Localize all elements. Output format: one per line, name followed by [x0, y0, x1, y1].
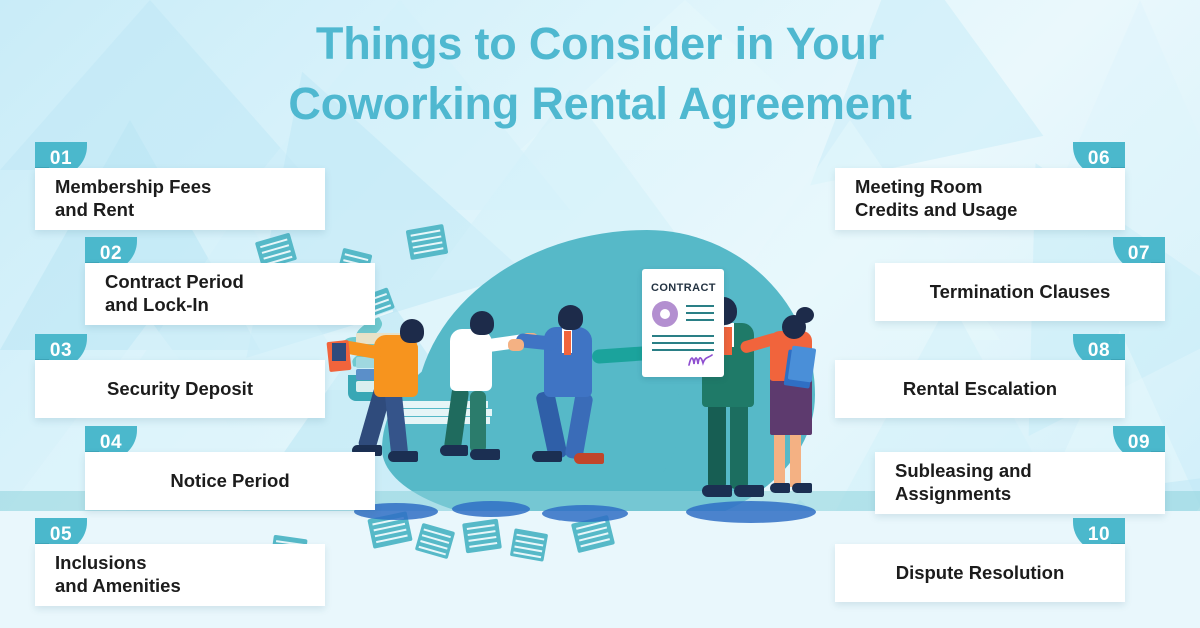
- contract-heading: CONTRACT: [651, 282, 716, 294]
- checklist-label: Meeting Room Credits and Usage: [835, 176, 1125, 221]
- checklist-card[interactable]: Subleasing and Assignments: [875, 452, 1165, 514]
- title-line-1: Things to Consider in Your: [316, 18, 884, 69]
- contract-seal: [652, 301, 678, 327]
- checklist-label: Subleasing and Assignments: [875, 460, 1165, 505]
- flying-paper: [462, 519, 502, 554]
- flying-paper: [510, 528, 548, 561]
- checklist-card[interactable]: Inclusions and Amenities: [35, 544, 325, 606]
- checklist-card[interactable]: Contract Period and Lock-In: [85, 263, 375, 325]
- checklist-label: Contract Period and Lock-In: [85, 271, 375, 316]
- figure-shadow: [542, 505, 628, 522]
- infographic-canvas: Things to Consider in Your Coworking Ren…: [0, 0, 1200, 628]
- checklist-label: Inclusions and Amenities: [35, 552, 325, 597]
- contract-signature: [688, 353, 714, 367]
- checklist-label: Rental Escalation: [835, 378, 1125, 401]
- figure-shadow: [452, 501, 530, 517]
- title-line-2: Coworking Rental Agreement: [0, 74, 1200, 134]
- checklist-label: Membership Fees and Rent: [35, 176, 325, 221]
- checklist-card[interactable]: Dispute Resolution: [835, 544, 1125, 602]
- checklist-label: Dispute Resolution: [835, 562, 1125, 585]
- figure-shadow: [686, 501, 816, 523]
- checklist-card[interactable]: Meeting Room Credits and Usage: [835, 168, 1125, 230]
- contract-document: CONTRACT: [642, 269, 724, 377]
- checklist-card[interactable]: Notice Period: [85, 452, 375, 510]
- negotiation-illustration: CONTRACT: [330, 215, 870, 628]
- flying-paper: [406, 224, 449, 260]
- checklist-label: Termination Clauses: [875, 281, 1165, 304]
- checklist-card[interactable]: Rental Escalation: [835, 360, 1125, 418]
- checklist-card[interactable]: Security Deposit: [35, 360, 325, 418]
- checklist-label: Notice Period: [85, 470, 375, 493]
- checklist-card[interactable]: Membership Fees and Rent: [35, 168, 325, 230]
- page-title: Things to Consider in Your Coworking Ren…: [0, 14, 1200, 134]
- checklist-card[interactable]: Termination Clauses: [875, 263, 1165, 321]
- checklist-label: Security Deposit: [35, 378, 325, 401]
